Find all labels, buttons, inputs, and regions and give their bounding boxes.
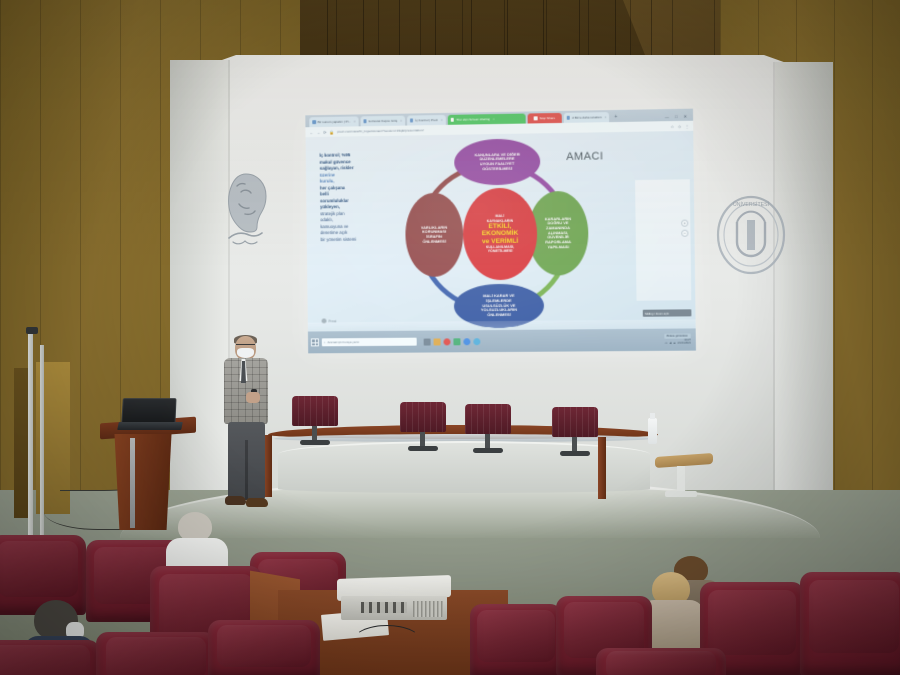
taskbar-clock[interactable]: 14:27 21.04.2021: [678, 340, 691, 346]
tab-favicon-icon: [363, 120, 366, 124]
para-line: kamuoyuna ve: [320, 224, 348, 229]
chair-base: [300, 440, 330, 445]
omnibox-actions[interactable]: ☆ ⬦ ⋮: [670, 123, 689, 128]
camera-mount-icon: [26, 327, 38, 334]
para-line: makul güvence: [320, 159, 351, 164]
lectern-metal-stripe: [130, 438, 135, 528]
back-icon[interactable]: ←: [309, 130, 313, 135]
windows-taskbar[interactable]: ⌕ Aramak için buraya yazın Birlere görün…: [308, 328, 696, 353]
projector-vent: [413, 601, 443, 617]
auditorium-seat: [208, 620, 320, 675]
tab-favicon-icon: [451, 118, 455, 122]
auditorium-seat: [470, 604, 562, 675]
hand-sanitizer-bottle: [648, 418, 657, 444]
tab-close-icon[interactable]: ×: [441, 118, 443, 122]
tab-favicon-icon: [312, 120, 315, 124]
para-line: İç kontrol; %95: [320, 152, 351, 157]
presenter-person: [218, 336, 274, 516]
battery-icon[interactable]: ▰: [674, 341, 676, 344]
laptop-screen: [121, 398, 176, 424]
conference-chair: [552, 407, 598, 459]
chair-base: [560, 451, 590, 456]
zoom-controls[interactable]: + −: [681, 220, 688, 237]
folder-icon[interactable]: [434, 338, 441, 345]
side-table: [655, 455, 713, 501]
para-line: stratejik plan: [320, 211, 344, 216]
tab-label: 2 Bin'e daha sıcaksın: [572, 115, 602, 120]
chair-backrest: [552, 407, 598, 437]
para-line: sorumluluklar: [320, 198, 349, 203]
wall-seam-right: [773, 62, 775, 512]
diagram-node-center: MALİ KAYNAKLARIN ETKİLİ, EKONOMİK ve VER…: [463, 187, 538, 280]
presenter-shoe: [225, 496, 246, 505]
slide-paragraph: İç kontrol; %95 makul güvence sağlayan, …: [320, 152, 382, 244]
projector-ports: [361, 602, 407, 613]
stop-icon: [534, 117, 538, 121]
tab-label: İç Kontrol | Prezi: [415, 118, 438, 122]
equipment-pole: [28, 333, 33, 548]
start-button-icon[interactable]: [311, 338, 319, 346]
presenter-shoe: [246, 498, 268, 507]
projector: [335, 577, 453, 629]
ataturk-relief-icon: [215, 170, 277, 252]
chair-backrest: [292, 396, 338, 426]
side-table-foot: [665, 491, 697, 497]
para-line: yükleyen,: [320, 204, 340, 209]
node-line: YAPILMASI: [548, 244, 569, 249]
conference-chair: [400, 402, 446, 454]
system-tray[interactable]: ▭ ◀ ▰ 14:27 21.04.2021: [665, 340, 691, 346]
conference-hall-photo: ÜNİVERSİTESİ Bir sunum yapalım | Pr... ×…: [0, 0, 900, 675]
projector-cable: [352, 625, 422, 659]
tab-close-icon[interactable]: ×: [354, 119, 356, 123]
stage-wall-right-wing: [775, 62, 833, 517]
auditorium-seat: [96, 632, 216, 675]
presenter-hands: [246, 392, 260, 403]
extension-icon[interactable]: ⬦: [678, 123, 681, 128]
slide-blank-area: [635, 179, 691, 300]
center-line: YÖNETİLMESİ: [488, 249, 513, 254]
projection-screen: Bir sunum yapalım | Pr... × E-Devlet Kap…: [305, 109, 696, 354]
opera-icon[interactable]: [443, 338, 450, 345]
lock-icon: 🔒: [329, 129, 334, 134]
conference-chair: [292, 396, 338, 448]
laptop-keyboard: [117, 422, 183, 430]
auditorium-seat: [0, 640, 100, 675]
bookmark-star-icon[interactable]: ☆: [670, 124, 674, 129]
tab-close-icon[interactable]: ×: [400, 119, 402, 123]
diagram-node-left: VARLIKLARIN KORUNMASI İSRAFIN ÖNLENMESİ: [405, 193, 464, 277]
minimize-icon[interactable]: —: [665, 114, 669, 119]
para-line: belli: [320, 192, 329, 197]
chair-base: [408, 446, 438, 451]
search-placeholder: Aramak için buraya yazın: [327, 340, 359, 344]
equipment-pole-secondary: [40, 345, 44, 545]
side-table-stem: [677, 466, 685, 492]
tab-favicon-icon: [567, 116, 571, 120]
task-view-icon[interactable]: [424, 338, 431, 345]
network-icon[interactable]: ▭: [665, 341, 668, 344]
slide-tooltip: Sliding / Zoom açık: [643, 309, 692, 316]
auditorium-seat: [800, 572, 900, 675]
clock-date: 21.04.2021: [678, 342, 691, 345]
zoom-out-button[interactable]: −: [681, 230, 688, 237]
volume-icon[interactable]: ◀: [669, 341, 671, 344]
stop-share-label: Stop Share: [539, 116, 555, 120]
diagram-title: AMACI: [566, 150, 603, 163]
new-tab-button[interactable]: +: [611, 114, 620, 120]
mail-icon[interactable]: [453, 338, 460, 345]
para-line: sağlayan, riskler: [320, 165, 354, 170]
zoom-in-button[interactable]: +: [681, 220, 688, 227]
university-seal-icon: ÜNİVERSİTESİ: [712, 192, 790, 278]
menu-kebab-icon[interactable]: ⋮: [685, 123, 689, 128]
para-line: üzerine: [320, 172, 335, 177]
edge-icon[interactable]: [473, 338, 480, 345]
taskbar-right-tray[interactable]: Birlere görüntüsü ▭ ◀ ▰ 14:27 21.04.2021: [664, 334, 693, 346]
window-controls[interactable]: — □ ✕: [665, 113, 689, 118]
reload-icon[interactable]: ⟳: [323, 129, 326, 134]
para-line: bir yönetim sistemi: [321, 237, 357, 242]
glasses-icon: [236, 344, 255, 347]
face-mask: [237, 348, 254, 358]
tab-label: Thư viện Screen sharing: [456, 117, 490, 122]
conference-chair: [465, 404, 511, 456]
node-line: GÖSTERİLMESİ: [482, 165, 512, 170]
chrome-icon[interactable]: [463, 338, 470, 345]
tab-close-icon[interactable]: ×: [605, 115, 607, 119]
chair-base: [473, 448, 503, 453]
next-slide-button[interactable]: ›: [517, 323, 518, 328]
para-line: kurulu,: [320, 179, 334, 184]
para-line: odaklı,: [320, 217, 333, 222]
maximize-icon[interactable]: □: [675, 113, 678, 118]
search-icon: ⌕: [324, 340, 326, 344]
tab-favicon-icon: [410, 119, 414, 123]
forward-icon[interactable]: →: [316, 129, 320, 134]
table-leg: [598, 437, 606, 499]
close-window-icon[interactable]: ✕: [684, 113, 687, 118]
chair-backrest: [400, 402, 446, 432]
auditorium-seat: [596, 648, 726, 675]
browser-tab[interactable]: İç Kontrol | Prezi ×: [407, 115, 446, 126]
tab-label: E-Devlet Kapısı Giriş: [369, 119, 397, 123]
node-line: ÖNLENMESİ: [423, 238, 446, 243]
para-line: her çalışana: [320, 185, 345, 190]
presenter-laptop: [118, 398, 180, 434]
stop-share-button[interactable]: Stop Share: [527, 113, 561, 124]
taskbar-pinned-icons[interactable]: [424, 338, 481, 345]
para-line: denetime açık: [320, 230, 347, 235]
svg-text:ÜNİVERSİTESİ: ÜNİVERSİTESİ: [733, 201, 769, 208]
trouser-seam: [245, 440, 248, 500]
chair-backrest: [465, 404, 511, 434]
tab-label: Bir sunum yapalım | Pr...: [318, 120, 351, 125]
prezi-slide-canvas[interactable]: İç kontrol; %95 makul güvence sağlayan, …: [306, 131, 696, 332]
taskbar-search-input[interactable]: ⌕ Aramak için buraya yazın: [322, 338, 417, 347]
prev-slide-button[interactable]: ‹: [482, 323, 483, 328]
tab-close-icon[interactable]: ×: [493, 117, 495, 121]
node-line: ÖNLENMESİ: [487, 312, 511, 317]
